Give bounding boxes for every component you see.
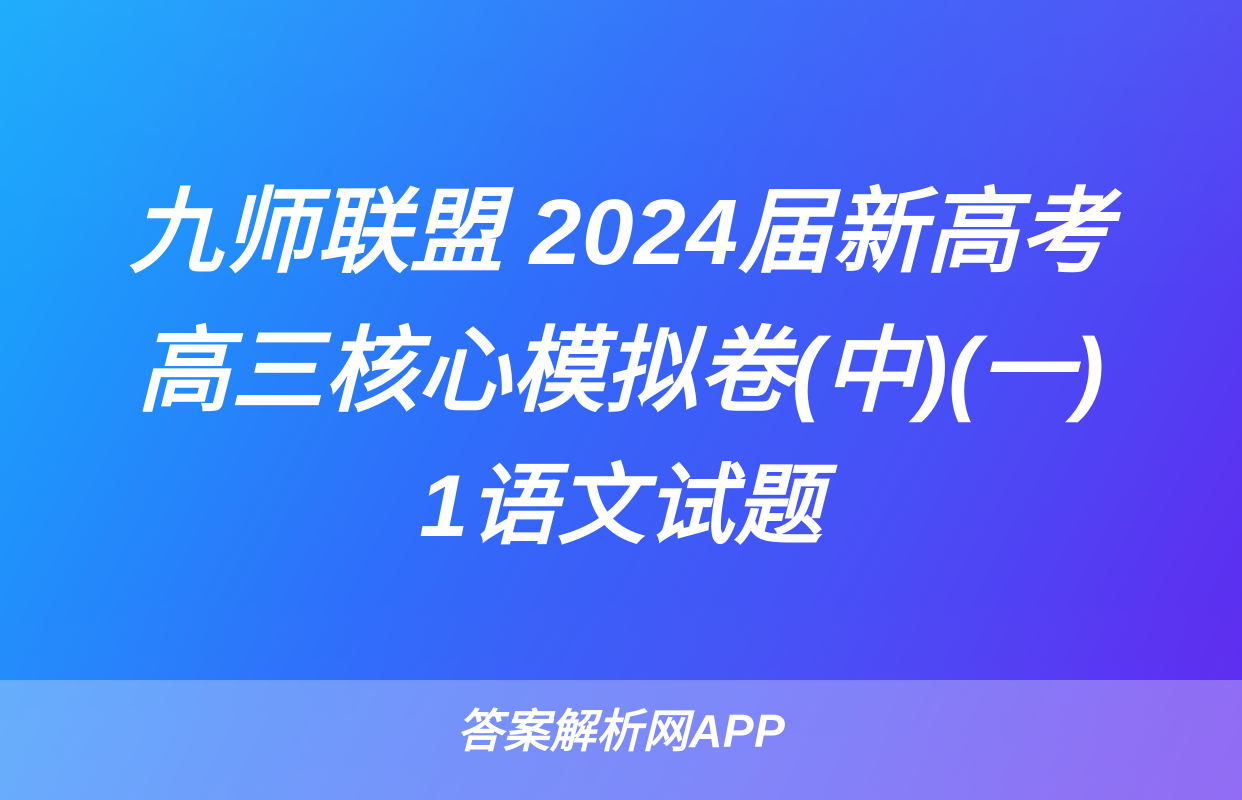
cover-image: 九师联盟 2024届新高考 高三核心模拟卷(中)(一) 1语文试题 答案解析网A… bbox=[0, 0, 1242, 800]
title-block: 九师联盟 2024届新高考 高三核心模拟卷(中)(一) 1语文试题 bbox=[0, 186, 1242, 550]
title-line-1: 九师联盟 2024届新高考 bbox=[18, 186, 1224, 279]
title-line-2: 高三核心模拟卷(中)(一) bbox=[18, 325, 1224, 418]
watermark-brand-label: 答案解析网APP bbox=[0, 708, 1242, 754]
title-line-3: 1语文试题 bbox=[18, 462, 1224, 550]
